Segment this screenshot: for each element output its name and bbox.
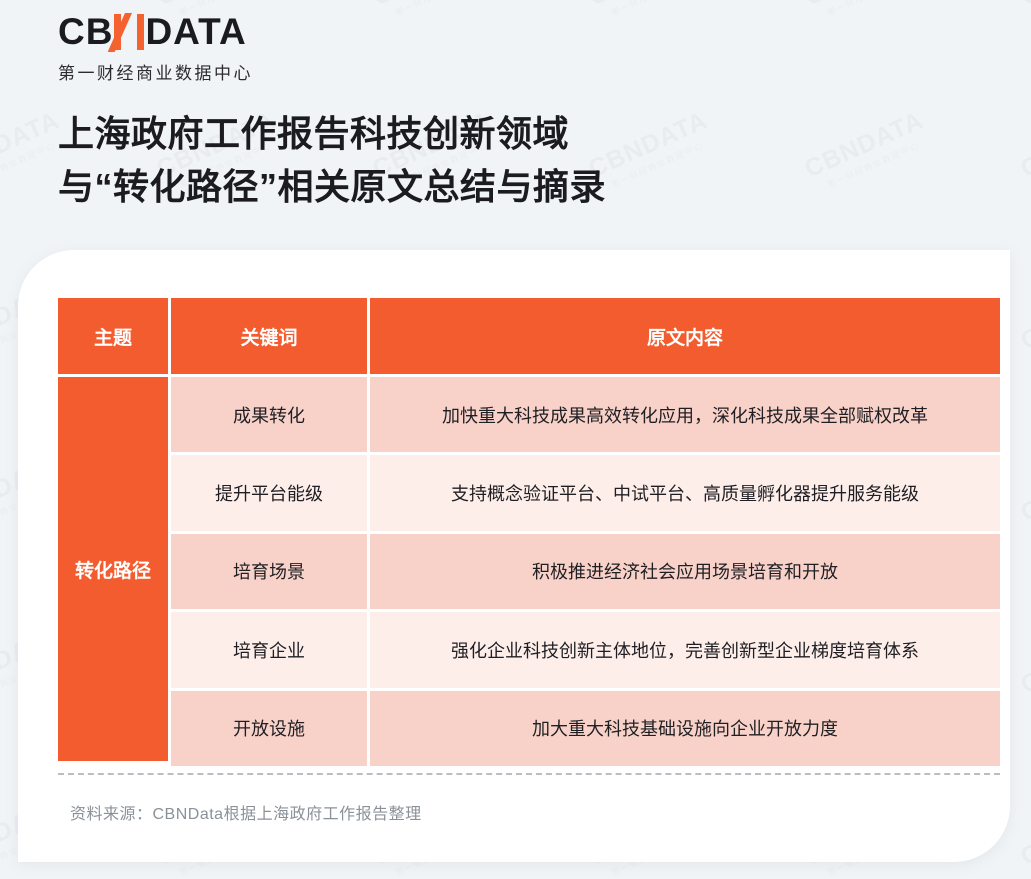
topic-column: 主题 转化路径 — [58, 298, 168, 766]
infographic-page: CBNDATA第一财经商业数据中心CBNDATA第一财经商业数据中心CBNDAT… — [0, 0, 1031, 879]
watermark-tile: CBNDATA第一财经商业数据中心 — [585, 0, 717, 24]
summary-table: 主题 转化路径 关键词 原文内容 成果转化 加快重大科技成果高效转化应用，深化科… — [58, 298, 1000, 766]
table-row: 成果转化 加快重大科技成果高效转化应用，深化科技成果全部赋权改革 — [171, 377, 1000, 452]
cell-keyword: 培育场景 — [171, 534, 367, 609]
footer-divider — [58, 773, 1000, 775]
cell-keyword: 提升平台能级 — [171, 455, 367, 530]
logo-text-data: DATA — [145, 13, 246, 50]
watermark-tile: CBNDATA第一财经商业数据中心 — [801, 0, 933, 24]
watermark-tile: CBNDATA第一财经商业数据中心 — [1017, 108, 1031, 196]
table-body-columns: 关键词 原文内容 成果转化 加快重大科技成果高效转化应用，深化科技成果全部赋权改… — [168, 298, 1000, 766]
logo-wordmark: CB DATA — [58, 13, 253, 50]
cell-content: 加大重大科技基础设施向企业开放力度 — [370, 691, 1000, 766]
cell-keyword: 成果转化 — [171, 377, 367, 452]
table-row: 培育场景 积极推进经济社会应用场景培育和开放 — [171, 534, 1000, 609]
page-title-line1: 上海政府工作报告科技创新领域 — [58, 113, 569, 154]
cell-keyword: 培育企业 — [171, 612, 367, 687]
n-monogram-icon — [114, 14, 144, 50]
logo-subtitle: 第一财经商业数据中心 — [58, 59, 253, 84]
table-row: 培育企业 强化企业科技创新主体地位，完善创新型企业梯度培育体系 — [171, 612, 1000, 687]
cell-content: 加快重大科技成果高效转化应用，深化科技成果全部赋权改革 — [370, 377, 1000, 452]
watermark-tile: CBNDATA第一财经商业数据中心 — [1017, 452, 1031, 540]
cell-content: 积极推进经济社会应用场景培育和开放 — [370, 534, 1000, 609]
page-title: 上海政府工作报告科技创新领域 与“转化路径”相关原文总结与摘录 — [58, 108, 606, 213]
cell-keyword: 开放设施 — [171, 691, 367, 766]
watermark-tile: CBNDATA第一财经商业数据中心 — [801, 108, 933, 196]
watermark-tile: CBNDATA第一财经商业数据中心 — [1017, 624, 1031, 712]
column-header-content: 原文内容 — [370, 298, 1000, 374]
brand-logo: CB DATA 第一财经商业数据中心 — [58, 13, 253, 84]
column-header-keyword: 关键词 — [171, 298, 367, 374]
table-row: 提升平台能级 支持概念验证平台、中试平台、高质量孵化器提升服务能级 — [171, 455, 1000, 530]
column-header-topic: 主题 — [58, 298, 168, 374]
cell-content: 支持概念验证平台、中试平台、高质量孵化器提升服务能级 — [370, 455, 1000, 530]
watermark-tile: CBNDATA第一财经商业数据中心 — [1017, 280, 1031, 368]
table-row: 开放设施 加大重大科技基础设施向企业开放力度 — [171, 691, 1000, 766]
cell-content: 强化企业科技创新主体地位，完善创新型企业梯度培育体系 — [370, 612, 1000, 687]
watermark-tile: CBNDATA第一财经商业数据中心 — [369, 0, 501, 24]
source-note: 资料来源：CBNData根据上海政府工作报告整理 — [70, 800, 422, 824]
topic-merged-cell: 转化路径 — [58, 377, 168, 761]
watermark-tile: CBNDATA第一财经商业数据中心 — [1017, 0, 1031, 24]
watermark-tile: CBNDATA第一财经商业数据中心 — [1017, 796, 1031, 879]
page-title-line2: 与“转化路径”相关原文总结与摘录 — [58, 161, 606, 214]
logo-text-cb: CB — [58, 13, 113, 50]
table-header-row: 关键词 原文内容 — [171, 298, 1000, 374]
